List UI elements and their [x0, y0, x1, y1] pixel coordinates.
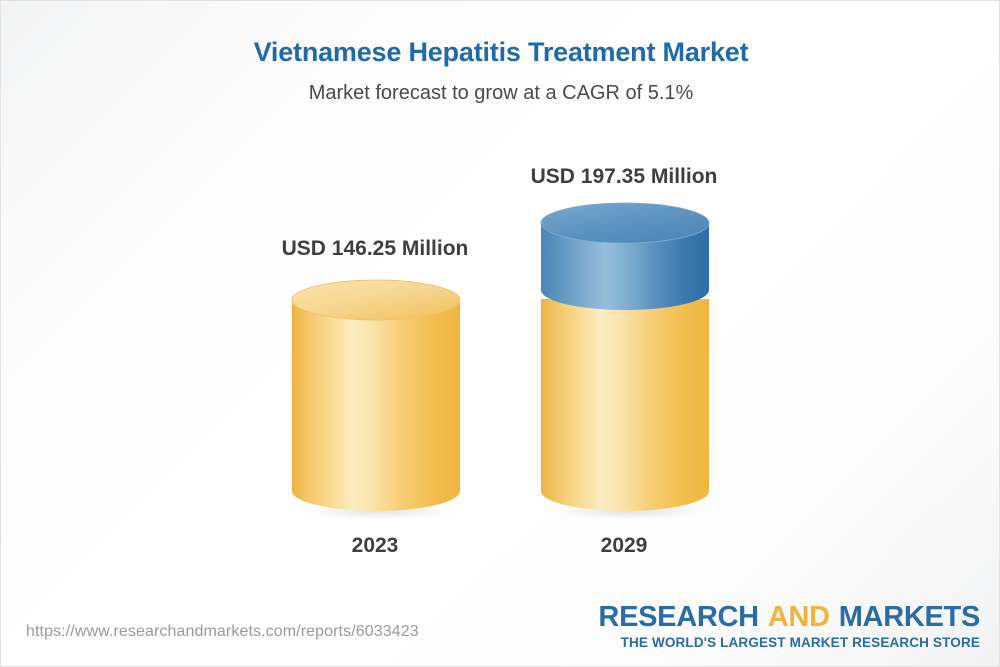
source-url[interactable]: https://www.researchandmarkets.com/repor… [26, 623, 419, 641]
logo-tagline: THE WORLD'S LARGEST MARKET RESEARCH STOR… [598, 635, 980, 650]
bar-body-2023 [292, 300, 460, 511]
value-label-2023: USD 146.25 Million [215, 237, 535, 261]
bar-top-ellipse-2029 [541, 203, 709, 243]
bar-cylinder-2029 [538, 202, 712, 521]
logo-wordmark: RESEARCHANDMARKETS [598, 602, 980, 633]
bar-top-ellipse-2023 [292, 280, 460, 320]
logo-word-markets: MARKETS [839, 601, 980, 633]
infographic-canvas: Vietnamese Hepatitis Treatment Market Ma… [0, 0, 1000, 667]
x-axis-label-2029: 2029 [464, 534, 784, 558]
chart-plot-area: USD 146.25 Million [1, 1, 1000, 601]
logo-word-and: AND [768, 601, 830, 633]
value-label-2029: USD 197.35 Million [464, 165, 784, 189]
bar-segment-yellow-2029 [541, 299, 709, 511]
logo-word-research: RESEARCH [598, 601, 758, 633]
research-and-markets-logo[interactable]: RESEARCHANDMARKETS THE WORLD'S LARGEST M… [598, 602, 980, 650]
bar-cylinder-2023 [289, 279, 463, 521]
